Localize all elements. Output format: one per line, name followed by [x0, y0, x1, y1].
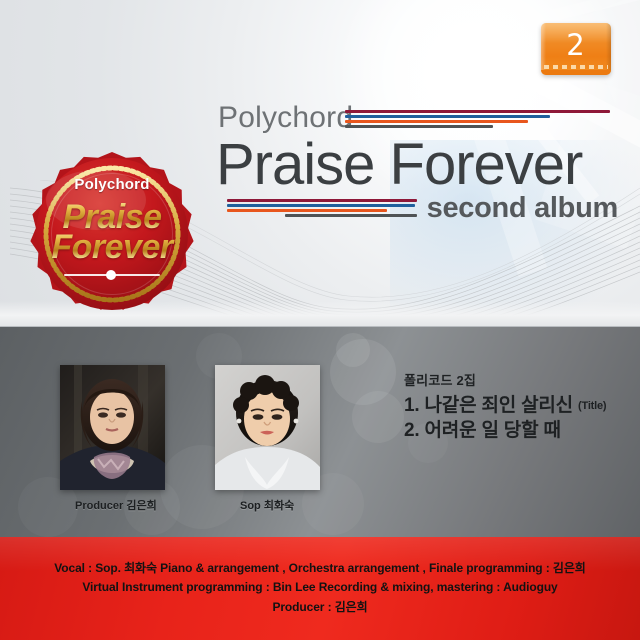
seal-divider-dot: [106, 270, 116, 280]
producer-portrait: [60, 365, 165, 490]
soprano-photo: [215, 365, 320, 490]
badge-footer-strip: [541, 70, 611, 75]
facet-shape: [498, 56, 514, 72]
soprano-portrait: [215, 365, 320, 490]
tracklist: 폴리코드 2집 1. 나같은 죄인 살리신 (Title) 2. 어려운 일 당…: [404, 370, 606, 444]
album-cover: 2 Polychord Praise Forever second album: [0, 0, 640, 640]
producer-photo: [60, 365, 165, 490]
rule-gray: [345, 125, 493, 128]
credits-section: Vocal : Sop. 최화숙 Piano & arrangement , O…: [0, 537, 640, 640]
bokeh-circle: [336, 333, 370, 367]
track-item: 2. 어려운 일 당할 때: [404, 418, 606, 443]
soprano-caption: Sop 최화숙: [240, 497, 294, 513]
rule-blue: [227, 204, 415, 207]
rule-gray: [285, 214, 417, 217]
rule-group-bottom: [227, 199, 417, 219]
album-number-badge: 2: [541, 23, 611, 75]
album-edition: second album: [427, 192, 618, 225]
seal-brand: Polychord: [28, 176, 196, 193]
rule-blue: [345, 115, 550, 118]
brand-name: Polychord: [218, 101, 353, 135]
credits-line-1: Vocal : Sop. 최화숙 Piano & arrangement , O…: [14, 559, 626, 578]
rule-maroon: [345, 110, 610, 113]
track-item: 1. 나같은 죄인 살리신 (Title): [404, 393, 606, 418]
tracklist-album-label: 폴리코드 2집: [404, 370, 606, 389]
track-title: 1. 나같은 죄인 살리신: [404, 395, 573, 416]
album-title: Praise Forever: [216, 131, 582, 198]
rule-maroon: [227, 199, 417, 202]
track-title-tag: (Title): [578, 400, 606, 412]
credits-text: Vocal : Sop. 최화숙 Piano & arrangement , O…: [0, 559, 640, 617]
rule-group-top: [345, 110, 610, 130]
rule-orange: [345, 120, 528, 123]
badge-perforation: [544, 65, 608, 69]
rule-orange: [227, 209, 387, 212]
producer-caption: Producer 김은희: [75, 497, 157, 513]
bokeh-circle: [352, 391, 404, 443]
praise-forever-seal: Polychord Praise Forever: [28, 150, 196, 318]
seal-text-group: Polychord Praise Forever: [28, 150, 196, 318]
credits-line-3: Producer : 김은희: [14, 598, 626, 617]
seal-title-line2: Forever: [28, 228, 196, 267]
middle-section: Producer 김은희 Sop 최화숙 폴리코드 2집 1. 나같은 죄인 살…: [0, 327, 640, 537]
credits-line-2: Virtual Instrument programming : Bin Lee…: [14, 578, 626, 597]
album-number-text: 2: [541, 25, 611, 65]
track-title: 2. 어려운 일 당할 때: [404, 420, 561, 441]
